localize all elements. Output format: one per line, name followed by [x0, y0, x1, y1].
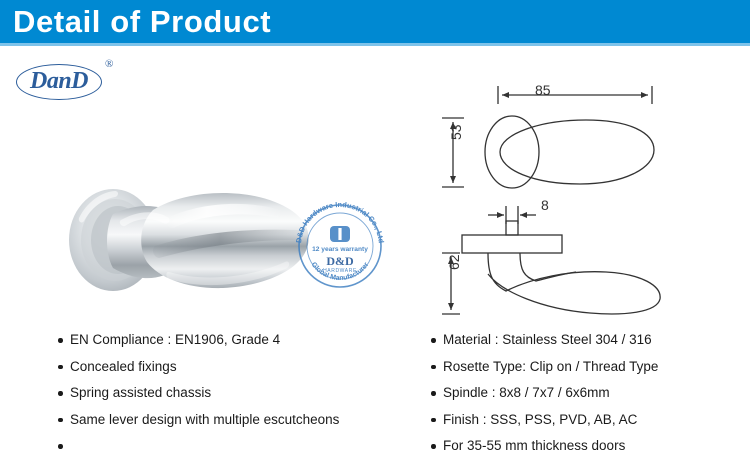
seal-emblem-icon	[330, 226, 350, 242]
specs-left-column: EN Compliance : EN1906, Grade 4 Conceale…	[57, 327, 407, 451]
specs-right-column: Material : Stainless Steel 304 / 316 Ros…	[430, 327, 740, 451]
dimension-label-53: 53	[448, 124, 464, 140]
spec-item: Rosette Type: Clip on / Thread Type	[430, 354, 740, 381]
dimension-label-62: 62	[446, 254, 462, 270]
registered-trademark-icon: ®	[105, 58, 113, 70]
dimension-label-85: 85	[535, 82, 551, 98]
logo-text: DanD	[16, 64, 102, 100]
brand-logo: DanD ®	[16, 58, 121, 102]
seal-brand-text: D&D	[326, 254, 354, 268]
spec-item: Concealed fixings	[57, 354, 407, 381]
technical-drawing	[430, 78, 730, 318]
spec-item: Spindle : 8x8 / 7x7 / 6x6mm	[430, 380, 740, 407]
spec-item: Material : Stainless Steel 304 / 316	[430, 327, 740, 354]
product-detail-page: Detail of Product DanD ®	[0, 0, 750, 451]
page-title: Detail of Product	[13, 3, 271, 41]
spec-item: Spring assisted chassis	[57, 380, 407, 407]
header-underline	[0, 43, 750, 46]
spec-item: Same lever design with multiple escutche…	[57, 407, 407, 434]
spec-item: For 35-55 mm thickness doors	[430, 433, 740, 451]
dimension-label-8: 8	[541, 197, 549, 213]
seal-warranty-text: 12 years warranty	[312, 246, 368, 253]
spec-item: Finish : SSS, PSS, PVD, AB, AC	[430, 407, 740, 434]
dimension-width-85	[498, 86, 652, 104]
spec-item: EN Compliance : EN1906, Grade 4	[57, 327, 407, 354]
spec-item-continuation: and functions to suit different applicat…	[57, 433, 407, 451]
watermark-seal: D&D Hardware Industrial Co., Ltd 12 year…	[290, 196, 390, 296]
